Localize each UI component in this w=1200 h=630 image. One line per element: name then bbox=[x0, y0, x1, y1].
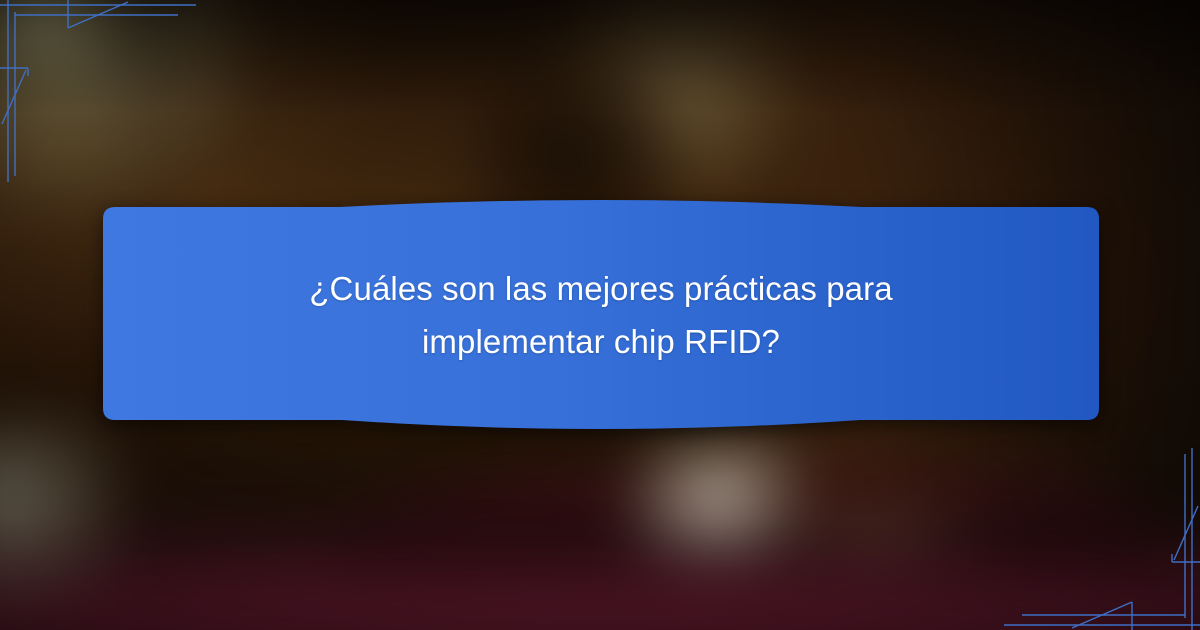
headline-line-1: ¿Cuáles son las mejores prácticas para bbox=[309, 262, 892, 315]
background-lamp-stem bbox=[36, 60, 54, 220]
poster-canvas: ¿Cuáles son las mejores prácticas para i… bbox=[0, 0, 1200, 630]
background-foreground-left bbox=[0, 420, 125, 615]
headline-text-block: ¿Cuáles son las mejores prácticas para i… bbox=[100, 190, 1102, 440]
background-carpet bbox=[0, 555, 1200, 630]
headline-line-2: implementar chip RFID? bbox=[422, 315, 780, 368]
